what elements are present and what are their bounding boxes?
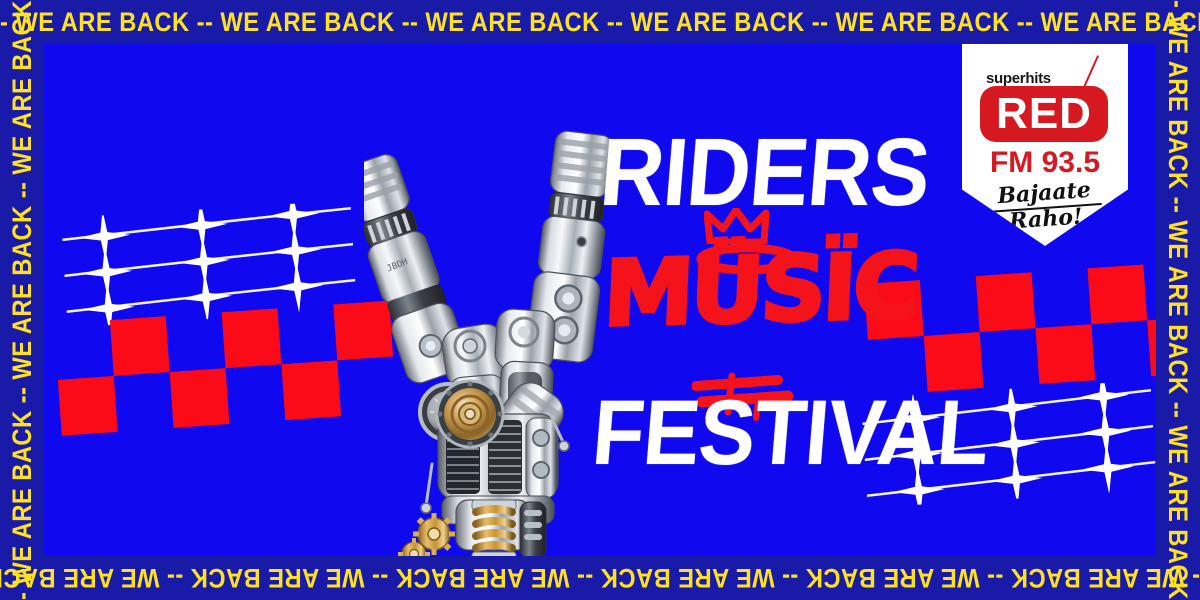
- marquee-right: - WE ARE BACK -- WE ARE BACK -- WE ARE B…: [1156, 0, 1200, 600]
- title-riders: RIDERS: [597, 132, 932, 215]
- logo-red-text: RED: [980, 86, 1108, 142]
- title-music: MÜSÏC: [602, 242, 918, 340]
- marquee-top-text: - WE ARE BACK -- WE ARE BACK -- WE ARE B…: [0, 0, 1200, 44]
- poster-canvas: - WE ARE BACK -- WE ARE BACK -- WE ARE B…: [0, 0, 1200, 600]
- marquee-left: - WE ARE BACK -- WE ARE BACK -- WE ARE B…: [0, 0, 44, 600]
- logo-red-badge: RED: [980, 86, 1108, 142]
- festival-title-block: RIDERS MÜSÏC: [592, 132, 922, 522]
- marquee-right-text: - WE ARE BACK -- WE ARE BACK -- WE ARE B…: [1156, 0, 1200, 600]
- logo-superhits-text: superhits: [986, 70, 1051, 87]
- metal-rock-hand-graphic: JBDH: [364, 114, 614, 556]
- marquee-bottom-text: - WE ARE BACK -- WE ARE BACK -- WE ARE B…: [0, 556, 1200, 600]
- marquee-left-text: - WE ARE BACK -- WE ARE BACK -- WE ARE B…: [0, 0, 44, 600]
- title-festival: FESTIVAL: [590, 394, 992, 473]
- sparkle-lines-left: [61, 200, 357, 327]
- marquee-top: - WE ARE BACK -- WE ARE BACK -- WE ARE B…: [0, 0, 1200, 44]
- marquee-bottom: - WE ARE BACK -- WE ARE BACK -- WE ARE B…: [0, 556, 1200, 600]
